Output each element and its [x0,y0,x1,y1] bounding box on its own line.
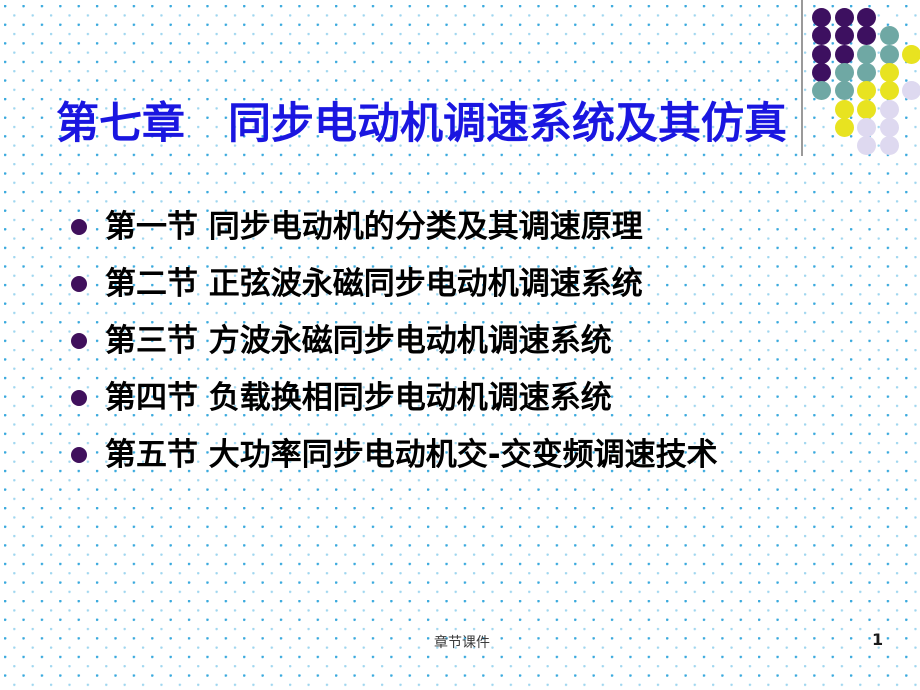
decoration-dot [857,26,876,45]
decoration-dot [880,118,899,137]
list-item[interactable]: 第三节 方波永磁同步电动机调速系统 [68,312,888,369]
list-item-label: 第四节 负载换相同步电动机调速系统 [105,380,612,416]
decoration-dot [835,8,854,27]
decoration-dot [812,63,831,82]
decoration-dot [835,26,854,45]
decoration-dot [812,45,831,64]
bullet-dot-icon [71,447,87,463]
decoration-dot [880,26,899,45]
decoration-dot [857,100,876,119]
list-item-label: 第一节 同步电动机的分类及其调速原理 [105,209,643,245]
decoration-dot [857,63,876,82]
decoration-dot [857,118,876,137]
list-item[interactable]: 第五节 大功率同步电动机交-交变频调速技术 [68,426,888,483]
list-item-label: 第五节 大功率同步电动机交-交变频调速技术 [105,437,718,473]
decoration-dot [835,63,854,82]
decoration-dot [880,81,899,100]
decoration-dot [902,45,920,64]
footer-label: 章节课件 [434,632,490,652]
decoration-dot [880,45,899,64]
list-item-label: 第三节 方波永磁同步电动机调速系统 [105,323,612,359]
decoration-dot [835,45,854,64]
bullet-dot-icon [71,219,87,235]
decoration-dot [880,136,899,155]
section-list: 第一节 同步电动机的分类及其调速原理第二节 正弦波永磁同步电动机调速系统第三节 … [68,198,888,483]
decoration-dot [857,45,876,64]
decoration-dot [880,100,899,119]
bullet-dot-icon [71,333,87,349]
list-item[interactable]: 第四节 负载换相同步电动机调速系统 [68,369,888,426]
list-item[interactable]: 第二节 正弦波永磁同步电动机调速系统 [68,255,888,312]
decoration-dot [812,26,831,45]
slide-canvas: 第七章 同步电动机调速系统及其仿真 第一节 同步电动机的分类及其调速原理第二节 … [0,0,920,690]
list-item[interactable]: 第一节 同步电动机的分类及其调速原理 [68,198,888,255]
decoration-dot [812,8,831,27]
bullet-dot-icon [71,276,87,292]
decoration-dot [902,81,920,100]
decoration-dot [880,63,899,82]
decoration-dot [857,8,876,27]
bullet-dot-icon [71,390,87,406]
page-number: 1 [872,630,883,649]
list-item-label: 第二节 正弦波永磁同步电动机调速系统 [105,266,643,302]
decoration-dot [857,136,876,155]
decoration-dot [857,81,876,100]
page-title: 第七章 同步电动机调速系统及其仿真 [56,98,856,150]
